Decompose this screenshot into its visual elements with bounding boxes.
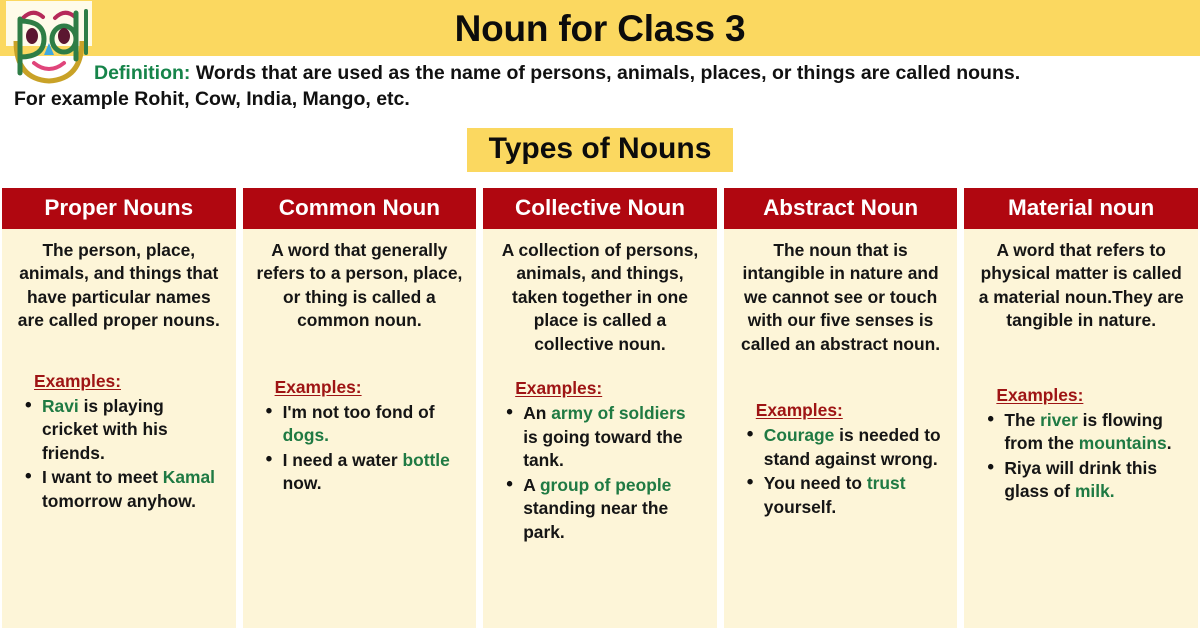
highlighted-noun: group of people <box>540 475 671 495</box>
example-item: Riya will drink this glass of milk. <box>984 457 1186 504</box>
card-description: A word that refers to physical matter is… <box>976 239 1186 333</box>
example-text: I want to meet <box>42 467 163 487</box>
highlighted-noun: river <box>1040 410 1078 430</box>
card-description: A collection of persons, animals, and th… <box>495 239 705 357</box>
highlighted-noun: Ravi <box>42 396 79 416</box>
noun-type-card-proper: Proper Nouns The person, place, animals,… <box>2 188 236 628</box>
example-item: The river is flowing from the mountains. <box>984 409 1186 456</box>
example-item: I want to meet Kamal tomorrow anyhow. <box>22 466 224 513</box>
highlighted-noun: army of soldiers <box>551 403 685 423</box>
card-body: The noun that is intangible in nature an… <box>724 229 958 628</box>
types-of-nouns-banner: Types of Nouns <box>467 128 734 172</box>
example-item: An army of soldiers is going toward the … <box>503 402 705 473</box>
card-title: Abstract Noun <box>724 188 958 229</box>
types-of-nouns-banner-wrap: Types of Nouns <box>0 128 1200 172</box>
card-body: A word that refers to physical matter is… <box>964 229 1198 628</box>
examples-list: An army of soldiers is going toward the … <box>495 402 705 544</box>
example-text: now. <box>283 473 322 493</box>
highlighted-noun: milk. <box>1075 481 1115 501</box>
card-body: A word that generally refers to a person… <box>243 229 477 628</box>
example-text: A <box>523 475 540 495</box>
card-description: The noun that is intangible in nature an… <box>736 239 946 357</box>
noun-type-card-material: Material noun A word that refers to phys… <box>964 188 1198 628</box>
example-text: You need to <box>764 473 867 493</box>
card-description: A word that generally refers to a person… <box>255 239 465 333</box>
noun-type-card-collective: Collective Noun A collection of persons,… <box>483 188 717 628</box>
definition-label: Definition: <box>94 62 190 84</box>
noun-type-card-common: Common Noun A word that generally refers… <box>243 188 477 628</box>
example-text: An <box>523 403 551 423</box>
example-item: Courage is needed to stand against wrong… <box>744 424 946 471</box>
examples-list: The river is flowing from the mountains.… <box>976 409 1186 504</box>
header-band: Noun for Class 3 <box>0 0 1200 56</box>
example-item: A group of people standing near the park… <box>503 474 705 545</box>
example-text: standing near the park. <box>523 498 668 542</box>
example-item: I need a water bottle now. <box>263 449 465 496</box>
card-description: The person, place, animals, and things t… <box>14 239 224 333</box>
example-text: is going toward the tank. <box>523 427 682 471</box>
example-item: Ravi is playing cricket with his friends… <box>22 395 224 466</box>
example-text: I need a water <box>283 450 403 470</box>
examples-list: Courage is needed to stand against wrong… <box>736 424 946 519</box>
noun-type-card-abstract: Abstract Noun The noun that is intangibl… <box>724 188 958 628</box>
examples-label: Examples: <box>255 377 465 398</box>
highlighted-noun: trust <box>867 473 906 493</box>
definition-text-line2: For example Rohit, Cow, India, Mango, et… <box>14 88 410 110</box>
card-title: Common Noun <box>243 188 477 229</box>
definition-block: Definition: Words that are used as the n… <box>0 60 1200 112</box>
highlighted-noun: mountains <box>1079 433 1167 453</box>
card-body: The person, place, animals, and things t… <box>2 229 236 628</box>
card-title: Collective Noun <box>483 188 717 229</box>
card-body: A collection of persons, animals, and th… <box>483 229 717 628</box>
noun-types-columns: Proper Nouns The person, place, animals,… <box>0 188 1200 628</box>
highlighted-noun: Courage <box>764 425 835 445</box>
highlighted-noun: Kamal <box>163 467 215 487</box>
definition-text-line1: Words that are used as the name of perso… <box>196 62 1020 84</box>
page-title: Noun for Class 3 <box>455 10 746 47</box>
highlighted-noun: bottle <box>402 450 449 470</box>
example-item: You need to trust yourself. <box>744 472 946 519</box>
examples-label: Examples: <box>976 385 1186 406</box>
examples-list: I'm not too fond of dogs.I need a water … <box>255 401 465 496</box>
examples-label: Examples: <box>736 400 946 421</box>
card-title: Material noun <box>964 188 1198 229</box>
example-text: . <box>1167 433 1172 453</box>
examples-list: Ravi is playing cricket with his friends… <box>14 395 224 514</box>
infographic-page: Noun for Class 3 <box>0 0 1200 628</box>
example-text: yourself. <box>764 497 836 517</box>
pdl-smiley-face-logo <box>6 1 92 89</box>
highlighted-noun: dogs. <box>283 425 329 445</box>
example-text: I'm not too fond of <box>283 402 435 422</box>
example-item: I'm not too fond of dogs. <box>263 401 465 448</box>
examples-label: Examples: <box>495 378 705 399</box>
example-text: The <box>1004 410 1040 430</box>
card-title: Proper Nouns <box>2 188 236 229</box>
examples-label: Examples: <box>14 371 224 392</box>
example-text: tomorrow anyhow. <box>42 491 196 511</box>
